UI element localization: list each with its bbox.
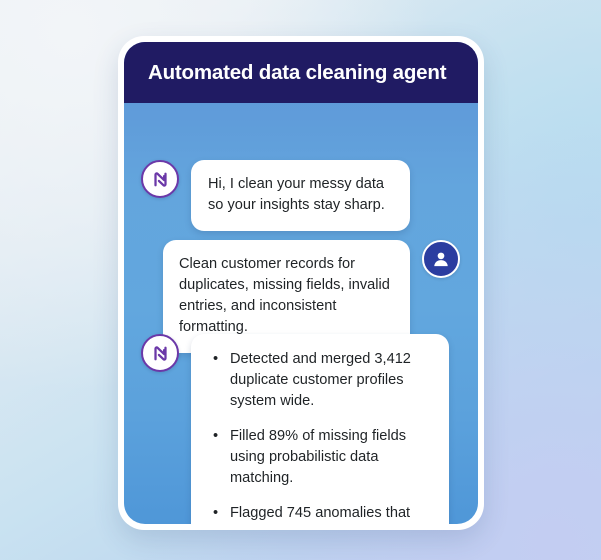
list-item: • Detected and merged 3,412 duplicate cu… (203, 349, 435, 412)
message-bubble-bot-results: • Detected and merged 3,412 duplicate cu… (191, 334, 449, 524)
message-text: Clean customer records for duplicates, m… (179, 254, 394, 338)
person-icon (431, 249, 451, 269)
message-text: Hi, I clean your messy data so your insi… (208, 174, 393, 216)
avatar-bot (141, 160, 179, 198)
message-bubble-bot-greeting: Hi, I clean your messy data so your insi… (191, 160, 410, 231)
list-item: • Flagged 745 anomalies that violated bu… (203, 503, 435, 524)
n-logo-icon (150, 343, 171, 364)
page-stage: Automated data cleaning agent Hi, I clea… (0, 0, 601, 560)
message-row-bot-results: • Detected and merged 3,412 duplicate cu… (141, 334, 449, 524)
message-row-bot-greeting: Hi, I clean your messy data so your insi… (141, 160, 410, 231)
list-item-text: Flagged 745 anomalies that violated busi… (230, 505, 410, 524)
bullet-marker-icon: • (213, 503, 218, 524)
list-item-text: Detected and merged 3,412 duplicate cust… (230, 351, 411, 409)
n-logo-icon (150, 169, 171, 190)
results-bullet-list: • Detected and merged 3,412 duplicate cu… (203, 349, 435, 524)
conversation-list: Hi, I clean your messy data so your insi… (124, 103, 478, 524)
bullet-marker-icon: • (213, 349, 218, 370)
card-header: Automated data cleaning agent (124, 42, 478, 103)
avatar-user (422, 240, 460, 278)
chat-card: Automated data cleaning agent Hi, I clea… (124, 42, 478, 524)
list-item: • Filled 89% of missing fields using pro… (203, 426, 435, 489)
list-item-text: Filled 89% of missing fields using proba… (230, 428, 406, 486)
page-title: Automated data cleaning agent (148, 61, 446, 85)
bullet-marker-icon: • (213, 426, 218, 447)
avatar-bot (141, 334, 179, 372)
